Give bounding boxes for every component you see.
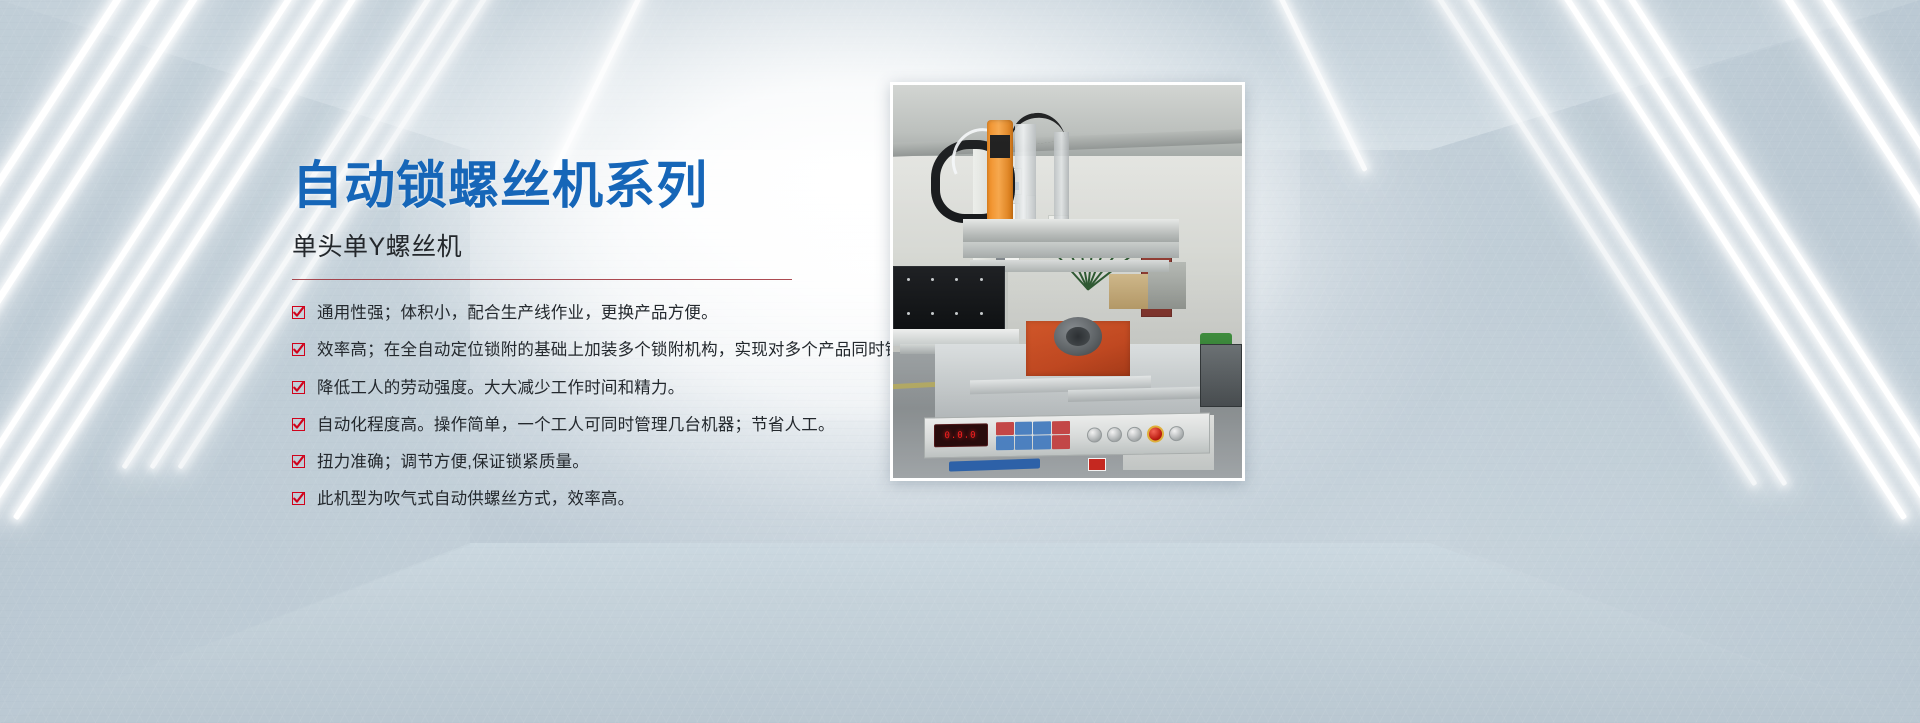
photo-gantry-beam bbox=[963, 242, 1179, 258]
photo-led-display: 0.0.0 bbox=[934, 424, 988, 448]
photo-knob bbox=[1127, 427, 1142, 442]
checkmark-icon bbox=[292, 306, 305, 319]
checkmark-icon bbox=[292, 381, 305, 394]
photo-knob bbox=[1107, 427, 1122, 442]
feature-text: 自动化程度高。操作简单，一个工人可同时管理几台机器；节省人工。 bbox=[317, 414, 835, 436]
feature-text: 通用性强；体积小，配合生产线作业，更换产品方便。 bbox=[317, 302, 718, 324]
photo-knob bbox=[1169, 426, 1184, 441]
title-divider bbox=[292, 279, 792, 280]
checkmark-icon bbox=[292, 455, 305, 468]
page-title: 自动锁螺丝机系列 bbox=[292, 158, 892, 213]
feature-item: 效率高；在全自动定位锁附的基础上加装多个锁附机构，实现对多个产品同时锁附。 bbox=[292, 339, 892, 361]
product-photo: 0.0.0 bbox=[890, 82, 1245, 481]
feature-text: 此机型为吹气式自动供螺丝方式，效率高。 bbox=[317, 488, 634, 510]
feature-item: 自动化程度高。操作简单，一个工人可同时管理几台机器；节省人工。 bbox=[292, 414, 892, 436]
feature-text: 效率高；在全自动定位锁附的基础上加装多个锁附机构，实现对多个产品同时锁附。 bbox=[317, 339, 935, 361]
photo-emergency-stop-button bbox=[1147, 425, 1164, 442]
banner-content: 自动锁螺丝机系列 单头单Y螺丝机 通用性强；体积小，配合生产线作业，更换产品方便… bbox=[292, 158, 892, 526]
feature-item: 此机型为吹气式自动供螺丝方式，效率高。 bbox=[292, 488, 892, 510]
photo-knob bbox=[1087, 427, 1102, 442]
checkmark-icon bbox=[292, 343, 305, 356]
feature-item: 扭力准确；调节方便,保证锁紧质量。 bbox=[292, 451, 892, 473]
checkmark-icon bbox=[292, 418, 305, 431]
photo-red-switch bbox=[1088, 458, 1105, 471]
feature-item: 降低工人的劳动强度。大大减少工作时间和精力。 bbox=[292, 377, 892, 399]
photo-gantry-beam bbox=[963, 219, 1179, 245]
photo-black-enclosure bbox=[893, 266, 1005, 333]
photo-workpiece bbox=[1054, 317, 1103, 356]
checkmark-icon bbox=[292, 492, 305, 505]
feature-item: 通用性强；体积小，配合生产线作业，更换产品方便。 bbox=[292, 302, 892, 324]
photo-knob-row bbox=[1087, 418, 1206, 451]
product-banner: 自动锁螺丝机系列 单头单Y螺丝机 通用性强；体积小，配合生产线作业，更换产品方便… bbox=[0, 0, 1920, 723]
feature-text: 降低工人的劳动强度。大大减少工作时间和精力。 bbox=[317, 377, 684, 399]
feature-text: 扭力准确；调节方便,保证锁紧质量。 bbox=[317, 451, 589, 473]
product-photo-image: 0.0.0 bbox=[893, 85, 1242, 478]
photo-monitor bbox=[1200, 344, 1242, 407]
page-subtitle: 单头单Y螺丝机 bbox=[292, 227, 892, 263]
photo-carton bbox=[1109, 274, 1147, 309]
photo-control-panel: 0.0.0 bbox=[924, 413, 1210, 459]
feature-list: 通用性强；体积小，配合生产线作业，更换产品方便。 效率高；在全自动定位锁附的基础… bbox=[292, 302, 892, 511]
photo-keypad bbox=[996, 421, 1070, 451]
